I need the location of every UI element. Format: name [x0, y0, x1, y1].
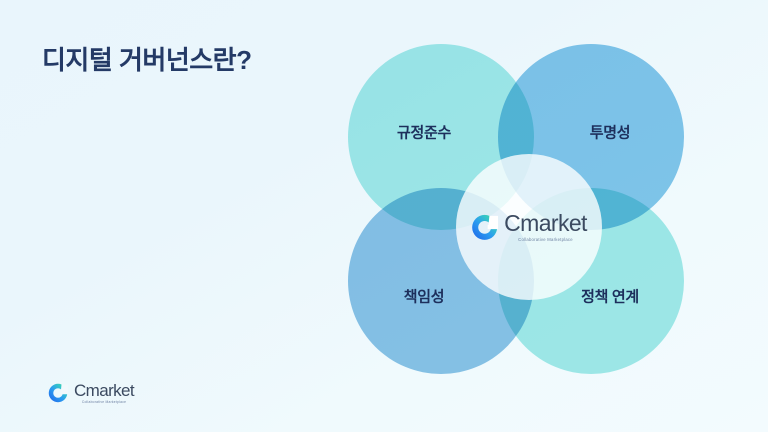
- venn-label-top-right: 투명성: [590, 122, 631, 143]
- venn-label-top-left: 규정준수: [397, 122, 451, 143]
- center-brand-logo: Cmarket Collaborative Marketplace: [471, 212, 587, 242]
- footer-brand-logo[interactable]: Cmarket Collaborative Marketplace: [48, 382, 134, 404]
- footer-brand-tagline: Collaborative Marketplace: [82, 401, 126, 404]
- venn-label-bottom-left: 책임성: [404, 286, 445, 307]
- cmarket-c-mark-icon: [471, 213, 498, 240]
- slide-canvas: 디지털 거버넌스란? 규정준수 투명성 책임성 정책 연계: [0, 0, 768, 432]
- center-brand-tagline: Collaborative Marketplace: [518, 238, 573, 242]
- cmarket-c-mark-icon: [48, 383, 68, 403]
- footer-brand-name: Cmarket: [74, 382, 134, 399]
- venn-diagram: 규정준수 투명성 책임성 정책 연계 Cmarket: [348, 44, 704, 380]
- page-title: 디지털 거버넌스란?: [42, 40, 251, 77]
- center-brand-name: Cmarket: [504, 212, 587, 235]
- venn-label-bottom-right: 정책 연계: [581, 286, 639, 307]
